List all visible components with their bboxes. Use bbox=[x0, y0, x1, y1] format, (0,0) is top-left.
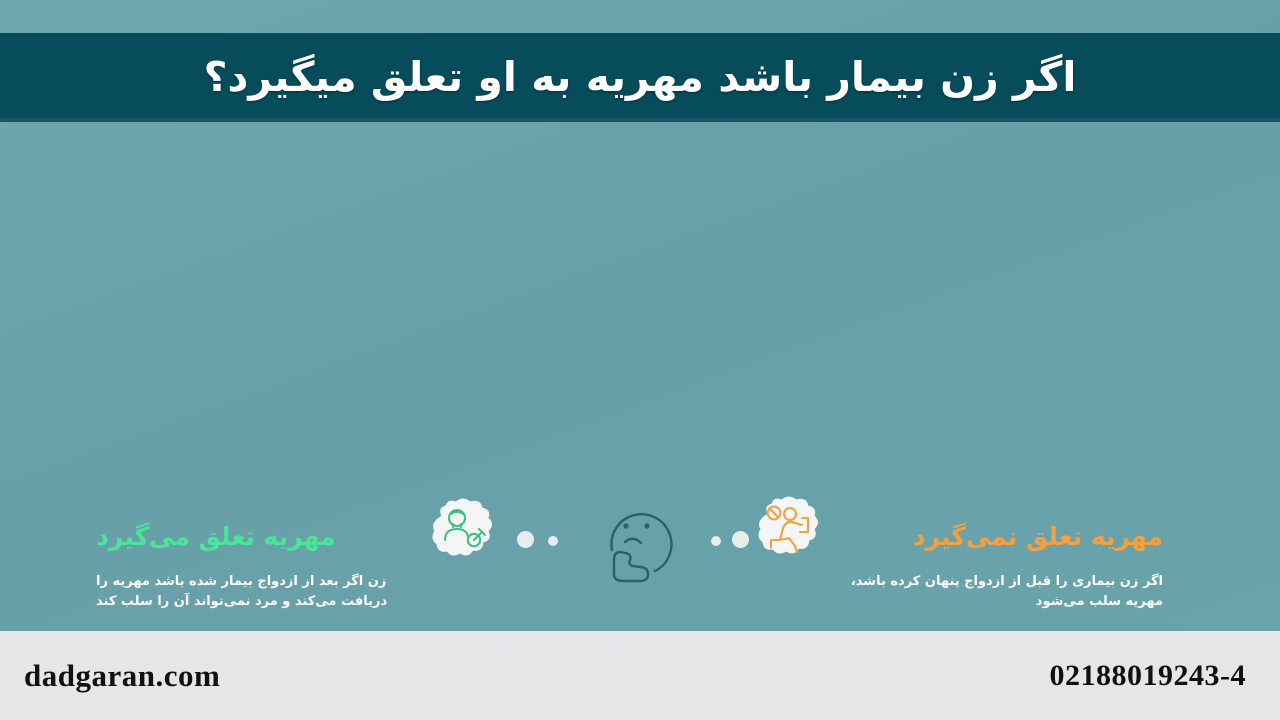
hidden-illness-prohibited-icon bbox=[756, 494, 822, 560]
header-band: اگر زن بیمار باشد مهریه به او تعلق میگیر… bbox=[0, 33, 1280, 122]
thinking-face-icon bbox=[592, 490, 688, 586]
footer-bar: dadgaran.com 02188019243-4 bbox=[0, 631, 1280, 720]
column-entitled: مهریه تعلق می‌گیرد زن اگر بعد از ازدواج … bbox=[96, 520, 436, 612]
page-title: اگر زن بیمار باشد مهریه به او تعلق میگیر… bbox=[204, 54, 1077, 101]
thought-dot-small-right bbox=[711, 536, 721, 546]
sick-woman-thermometer-icon bbox=[430, 496, 496, 562]
scene: مهریه تعلق می‌گیرد زن اگر بعد از ازدواج … bbox=[0, 122, 1280, 631]
footer-website[interactable]: dadgaran.com bbox=[24, 658, 220, 694]
thought-dot-small-left bbox=[548, 536, 558, 546]
column-not-entitled: مهریه تعلق نمی‌گیرد اگر زن بیماری را قبل… bbox=[843, 520, 1163, 612]
footer-phone[interactable]: 02188019243-4 bbox=[1050, 659, 1247, 693]
column-entitled-heading: مهریه تعلق می‌گیرد bbox=[96, 520, 436, 554]
column-entitled-body: زن اگر بعد از ازدواج بیمار شده باشد مهری… bbox=[96, 572, 436, 612]
thought-dot-large-right bbox=[732, 531, 749, 548]
column-not-entitled-heading: مهریه تعلق نمی‌گیرد bbox=[843, 520, 1163, 554]
thought-dot-large-left bbox=[517, 531, 534, 548]
column-not-entitled-body: اگر زن بیماری را قبل از ازدواج پنهان کرد… bbox=[843, 572, 1163, 612]
poster-canvas: اگر زن بیمار باشد مهریه به او تعلق میگیر… bbox=[0, 0, 1280, 720]
